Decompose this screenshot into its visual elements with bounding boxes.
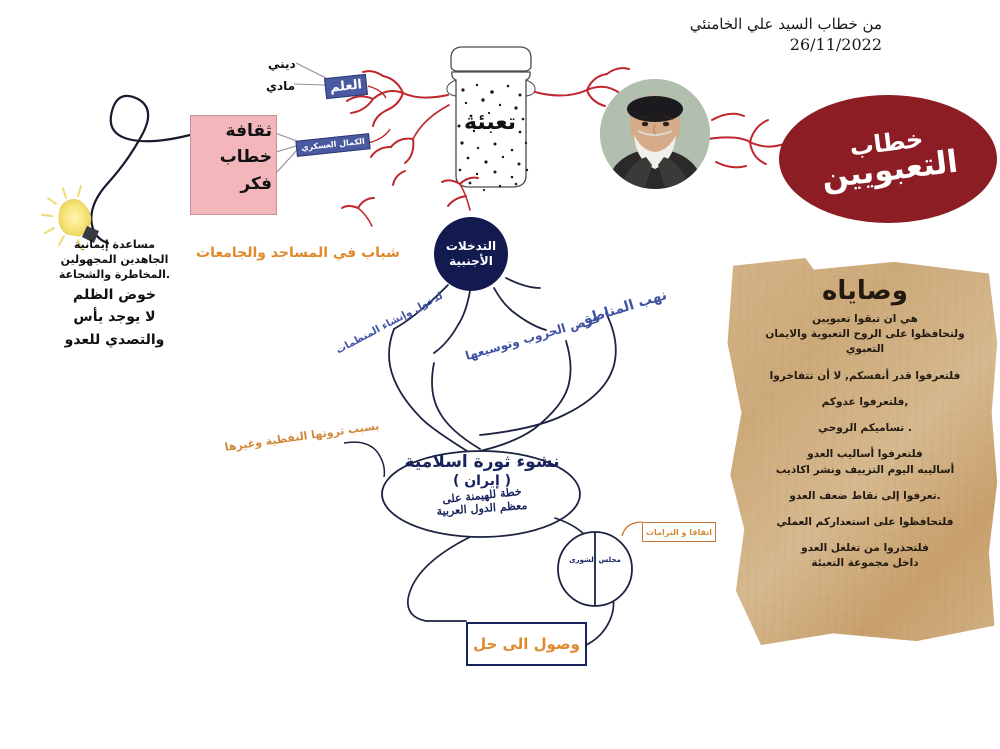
parchment-block: فلتعرفوا أساليب العدو أساليبه اليوم التز… [746, 447, 984, 477]
header-source-line: من خطاب السيد علي الخامنئي [690, 14, 882, 34]
culture-box-line2: خطاب [220, 144, 272, 170]
keyword-material: مادي [266, 79, 295, 93]
faith-support-line6: والتصدي للعدو [47, 331, 182, 351]
parchment-line: فلتعرفوا أساليب العدو [746, 447, 984, 462]
parchment-block: فلتحذروا من تغلغل العدو داخل مجموعة التع… [746, 541, 984, 571]
testament-parchment: وصاياه هي ان تبقوا تعبويين ولتحافظوا على… [722, 258, 1000, 645]
foreign-interventions-line1: التدخلات [446, 239, 496, 254]
parchment-line: فلتعرفوا عدوكم, [746, 395, 984, 410]
parchment-block: تساميكم الروحي . [746, 421, 984, 436]
header-date: 26/11/2022 [690, 34, 882, 56]
parchment-title: وصاياه [746, 276, 984, 306]
parchment-line: تساميكم الروحي . [746, 421, 984, 436]
knowledge-label-box: العلم [324, 74, 368, 99]
parchment-line: أساليبه اليوم التزييف ونشر اكاذيب [746, 463, 984, 478]
foreign-interventions-line2: الأجنبية [446, 254, 496, 269]
keyword-religious: ديني [268, 57, 296, 71]
jar-label: تعبئة [430, 110, 550, 135]
mindmap-canvas: من خطاب السيد علي الخامنئي 26/11/2022 خط… [0, 0, 1000, 749]
faith-support-line4: خوض الظلم [47, 286, 182, 306]
shura-circle [558, 532, 632, 606]
khomeini-portrait [600, 79, 710, 189]
faith-support-paragraph: مساعدة إيمانية الجاهدين المجهولين المخاط… [47, 238, 182, 350]
parchment-block: هي ان تبقوا تعبويين ولتحافظوا على الروح … [746, 312, 984, 358]
parchment-line: هي ان تبقوا تعبويين [746, 312, 984, 327]
parchment-line: داخل مجموعة التعبئة [746, 556, 984, 571]
culture-box: ثقافة خطاب فكر [190, 115, 277, 215]
neuron-branches [342, 68, 806, 226]
commitments-box: اتفاقا و التزامات [642, 522, 716, 542]
parchment-line: فلتحذروا من تغلغل العدو [746, 541, 984, 556]
parchment-line: فلتحافظوا على استعداركم العملي [746, 515, 984, 530]
culture-box-line3: فكر [220, 171, 272, 197]
foreign-interventions-circle: التدخلات الأجنبية [434, 217, 508, 291]
parchment-line: فلتعرفوا قدر أنفسكم, لا أن تتفاخروا [746, 369, 984, 384]
faith-support-line2: الجاهدين المجهولين [47, 253, 182, 268]
commitment-connector [622, 522, 642, 536]
parchment-block: فلتحافظوا على استعداركم العملي [746, 515, 984, 530]
funnel-lines [389, 313, 616, 459]
shura-council-label: مجلس الشورى [560, 556, 630, 564]
faith-support-line1: مساعدة إيمانية [47, 238, 182, 253]
parchment-block: تعرفوا إلى نقاط ضعف العدو. [746, 489, 984, 504]
parchment-block: فلتعرفوا قدر أنفسكم, لا أن تتفاخروا [746, 369, 984, 384]
bulb-cord [91, 96, 190, 243]
parchment-line: ولتحافظوا على الروح التعبوية والايمان ال… [746, 327, 984, 357]
main-title-ellipse: خطاب التعبويين [779, 95, 997, 223]
revolution-line1: نشوء ثورة اسلامية [372, 452, 592, 472]
youth-mosques-universities-label: شباب في المساجد والجامعات [196, 245, 400, 261]
faith-support-line5: لا يوجد يأس [47, 308, 182, 328]
solution-box: وصول الى حل [466, 622, 587, 666]
revolution-oval-text: نشوء ثورة اسلامية ( إيران ) خطة للهيمنة … [372, 452, 592, 515]
parchment-block: فلتعرفوا عدوكم, [746, 395, 984, 410]
solution-box-label: وصول الى حل [473, 635, 580, 653]
commitments-box-label: اتفاقا و التزامات [646, 528, 712, 537]
faith-support-line3: المخاطرة والشجاعة. [47, 268, 182, 283]
parchment-line: تعرفوا إلى نقاط ضعف العدو. [746, 489, 984, 504]
culture-box-line1: ثقافة [220, 118, 272, 144]
header-source: من خطاب السيد علي الخامنئي 26/11/2022 [690, 14, 882, 56]
